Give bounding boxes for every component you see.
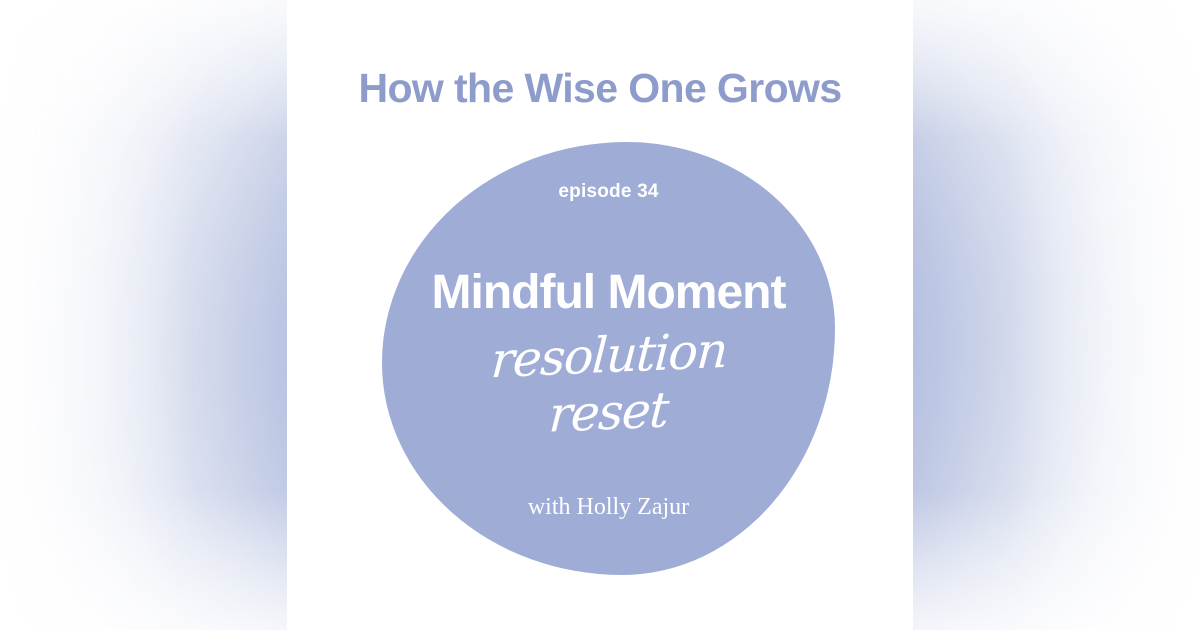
podcast-cover-canvas: How the Wise One Grows episode 34 Mindfu… — [0, 0, 1200, 630]
episode-subtitle-line-2: reset — [548, 385, 670, 439]
episode-subtitle-line-1: resolution — [489, 326, 728, 385]
page-title: How the Wise One Grows — [287, 68, 913, 109]
host-credit: with Holly Zajur — [382, 495, 835, 519]
cover-card: How the Wise One Grows episode 34 Mindfu… — [287, 0, 913, 630]
episode-blob: episode 34 Mindful Moment resolution res… — [382, 142, 835, 575]
episode-label: episode 34 — [558, 182, 658, 201]
episode-title: Mindful Moment — [432, 269, 786, 317]
